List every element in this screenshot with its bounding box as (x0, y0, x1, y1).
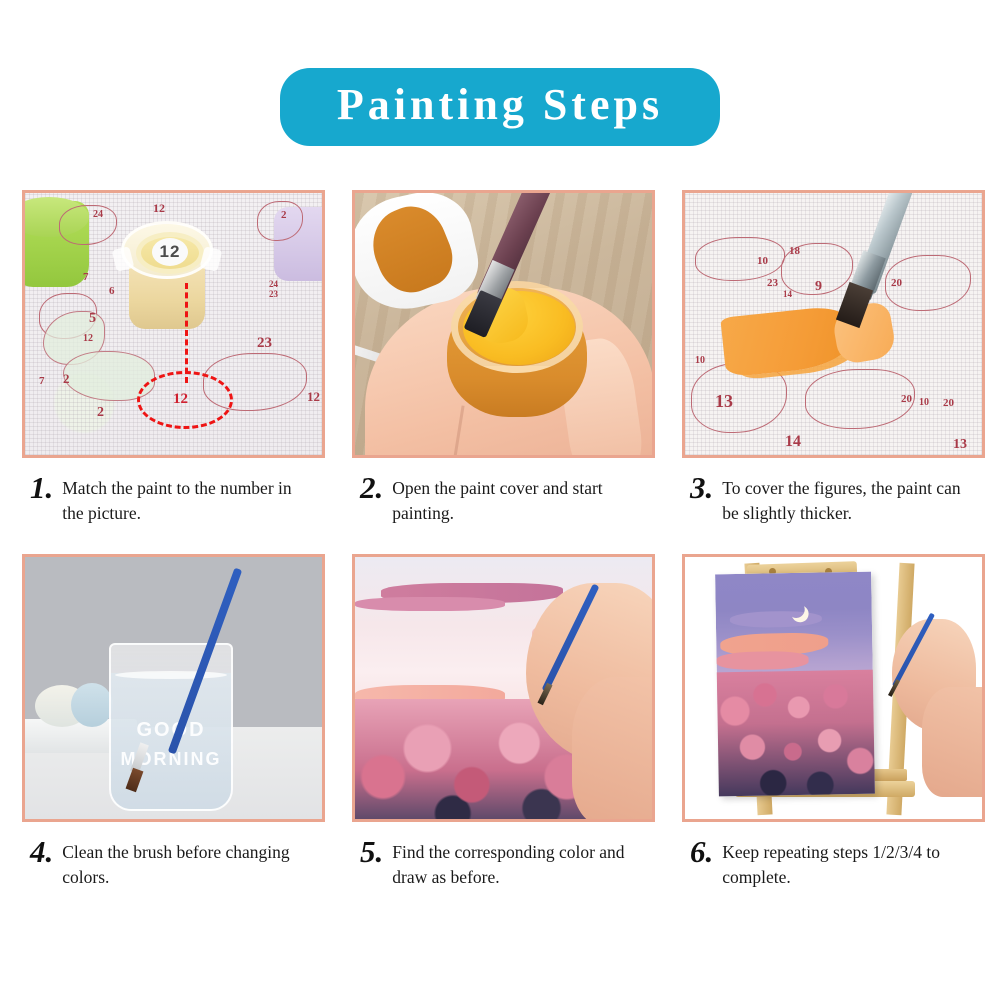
step-3-number: 3. (690, 472, 722, 503)
wrist (922, 687, 982, 797)
canvas-number: 10 (695, 355, 705, 366)
canvas-number: 12 (307, 389, 320, 405)
step-6-number: 6. (690, 836, 722, 867)
step-card-3: 10 18 23 9 20 14 20 10 13 14 20 10 20 13 (682, 190, 985, 542)
step-5-caption: 5. Find the corresponding color and draw… (352, 822, 655, 906)
canvas-number: 10 (757, 255, 768, 267)
canvas-number: 24 (269, 279, 278, 289)
wrist (572, 677, 652, 819)
canvas-number: 18 (789, 245, 800, 257)
canvas-number: 10 (919, 397, 929, 408)
finished-canvas (715, 572, 875, 797)
step-4-number: 4. (30, 836, 62, 867)
step-2-text: Open the paint cover and start painting. (392, 472, 640, 527)
step-3-photo: 10 18 23 9 20 14 20 10 13 14 20 10 20 13 (682, 190, 985, 458)
step-6-photo (682, 554, 985, 822)
glass-text-good: GOOD (111, 719, 231, 742)
step-1-number: 1. (30, 472, 62, 503)
step-1-photo: 12 24 2 7 6 5 12 2 7 2 23 24 23 12 (22, 190, 325, 458)
canvas-number: 7 (83, 271, 89, 283)
canvas-number: 20 (943, 397, 954, 409)
yellow-paint-pot: 12 (121, 221, 213, 329)
step-6-caption: 6. Keep repeating steps 1/2/3/4 to compl… (682, 822, 985, 906)
step-2-caption: 2. Open the paint cover and start painti… (352, 458, 655, 542)
page-title: Painting Steps (332, 82, 668, 128)
canvas-number: 20 (901, 393, 912, 405)
step-5-number: 5. (360, 836, 392, 867)
step-4-text: Clean the brush before changing colors. (62, 836, 310, 891)
canvas-number: 13 (953, 437, 967, 453)
paint-pot-lid: 12 (121, 221, 213, 279)
canvas-number: 13 (715, 391, 733, 412)
sky-color-band (355, 597, 505, 611)
painted-cloud (716, 651, 808, 671)
step-6-text: Keep repeating steps 1/2/3/4 to complete… (722, 836, 970, 891)
finger-separation (444, 405, 464, 455)
page-header: Painting Steps (0, 68, 1000, 146)
canvas-number: 2 (281, 209, 287, 221)
step-card-4: GOOD MORNING 4. Clean the brush before c… (22, 554, 325, 906)
step-4-caption: 4. Clean the brush before changing color… (22, 822, 325, 906)
canvas-number: 23 (767, 277, 778, 289)
canvas-number: 12 (153, 201, 165, 216)
canvas-number: 6 (109, 285, 115, 297)
step-1-caption: 1. Match the paint to the number in the … (22, 458, 325, 542)
canvas-number: 14 (785, 433, 801, 451)
water-surface-line (115, 671, 227, 679)
paint-residue-on-lid (362, 196, 462, 302)
canvas-number: 5 (89, 311, 96, 327)
canvas-number: 9 (815, 279, 822, 295)
paint-pot-tab-left (112, 246, 135, 272)
step-card-5: 5. Find the corresponding color and draw… (352, 554, 655, 906)
canvas-number: 2 (63, 371, 70, 387)
red-dashed-pointer-line (185, 283, 188, 383)
canvas-number: 14 (783, 289, 792, 299)
step-card-6: 6. Keep repeating steps 1/2/3/4 to compl… (682, 554, 985, 906)
step-5-text: Find the corresponding color and draw as… (392, 836, 640, 891)
canvas-number: 23 (257, 335, 272, 352)
target-region-number: 12 (173, 391, 188, 408)
step-5-photo (352, 554, 655, 822)
canvas-number: 23 (269, 289, 278, 299)
canvas-number: 12 (83, 333, 93, 344)
step-3-text: To cover the figures, the paint can be s… (722, 472, 970, 527)
background-object (71, 683, 113, 727)
step-2-number: 2. (360, 472, 392, 503)
canvas-number: 7 (39, 375, 45, 387)
steps-grid: 12 24 2 7 6 5 12 2 7 2 23 24 23 12 (22, 190, 980, 906)
step-card-2: 2. Open the paint cover and start painti… (352, 190, 655, 542)
step-4-photo: GOOD MORNING (22, 554, 325, 822)
paint-pot-number-label: 12 (152, 238, 188, 266)
painted-blossoms (715, 670, 875, 797)
step-2-photo (352, 190, 655, 458)
canvas-number: 20 (891, 277, 902, 289)
step-card-1: 12 24 2 7 6 5 12 2 7 2 23 24 23 12 (22, 190, 325, 542)
title-banner: Painting Steps (280, 68, 720, 146)
canvas-number: 24 (93, 209, 103, 220)
step-3-caption: 3. To cover the figures, the paint can b… (682, 458, 985, 542)
canvas-number: 2 (97, 405, 104, 421)
step-1-text: Match the paint to the number in the pic… (62, 472, 310, 527)
